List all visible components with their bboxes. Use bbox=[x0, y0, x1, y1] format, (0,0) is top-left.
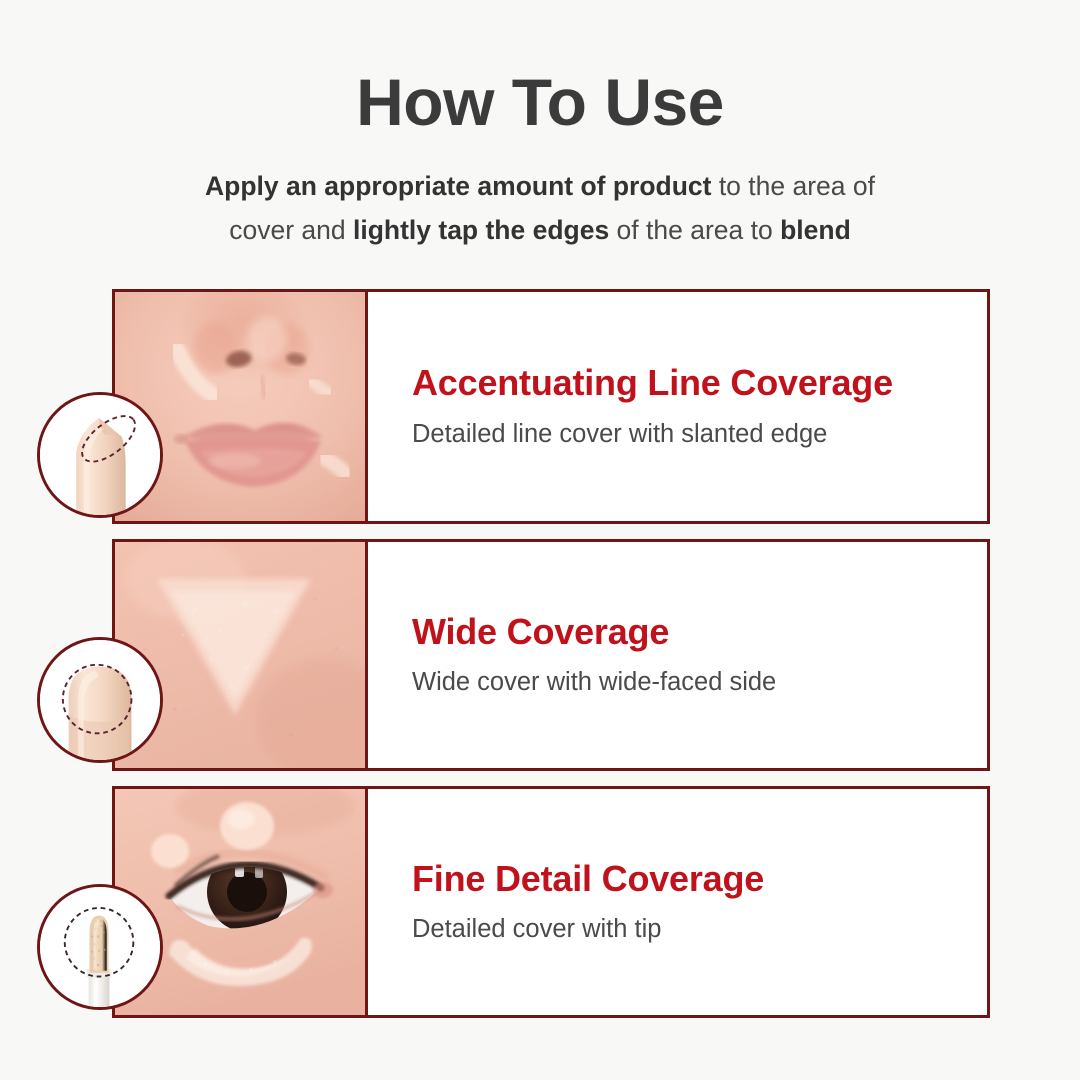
page-subtitle: Apply an appropriate amount of product t… bbox=[140, 137, 940, 252]
panel-3-description: Detailed cover with tip bbox=[412, 900, 967, 946]
panel-accentuating-line-coverage: Accentuating Line Coverage Detailed line… bbox=[112, 289, 990, 524]
fine-tip-applicator-badge bbox=[37, 884, 163, 1010]
panel-3-heading: Fine Detail Coverage bbox=[412, 858, 967, 900]
panel-1-description: Detailed line cover with slanted edge bbox=[412, 405, 967, 451]
wide-faced-stick-tip-badge bbox=[37, 637, 163, 763]
header: How To Use Apply an appropriate amount o… bbox=[0, 0, 1080, 253]
page-title: How To Use bbox=[0, 0, 1080, 137]
subtitle-bold-2: lightly tap the edges bbox=[353, 215, 609, 245]
panel-wide-coverage: Wide Coverage Wide cover with wide-faced… bbox=[112, 539, 990, 771]
how-to-use-page: How To Use Apply an appropriate amount o… bbox=[0, 0, 1080, 1080]
subtitle-text-1: to the area of bbox=[711, 171, 875, 201]
panel-1-text: Accentuating Line Coverage Detailed line… bbox=[368, 292, 987, 521]
panel-list: Accentuating Line Coverage Detailed line… bbox=[112, 289, 990, 1033]
subtitle-bold-3: blend bbox=[780, 215, 851, 245]
subtitle-bold-1: Apply an appropriate amount of product bbox=[205, 171, 711, 201]
panel-3-text: Fine Detail Coverage Detailed cover with… bbox=[368, 789, 987, 1015]
panel-2-description: Wide cover with wide-faced side bbox=[412, 653, 967, 699]
panel-fine-detail-coverage: Fine Detail Coverage Detailed cover with… bbox=[112, 786, 990, 1018]
subtitle-text-3: of the area to bbox=[609, 215, 780, 245]
panel-2-heading: Wide Coverage bbox=[412, 611, 967, 653]
panel-1-heading: Accentuating Line Coverage bbox=[412, 362, 967, 404]
slanted-edge-stick-tip-badge bbox=[37, 392, 163, 518]
panel-2-text: Wide Coverage Wide cover with wide-faced… bbox=[368, 542, 987, 768]
subtitle-text-2: cover and bbox=[229, 215, 353, 245]
